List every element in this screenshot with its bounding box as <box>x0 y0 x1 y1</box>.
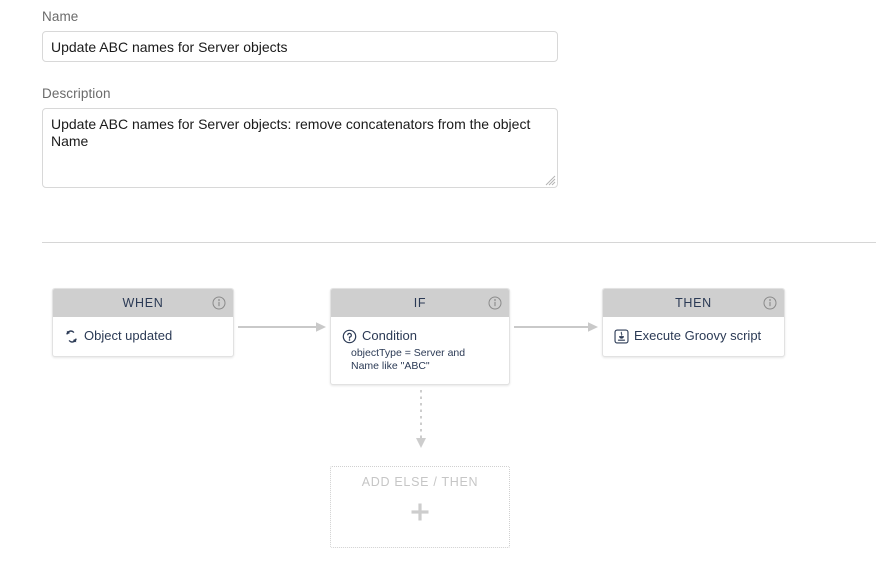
flow-card-then-title: THEN <box>675 296 712 310</box>
flow-card-when[interactable]: WHEN Object updated <box>52 288 234 357</box>
info-circle-icon[interactable] <box>212 296 226 310</box>
flow-card-then[interactable]: THEN Execute Groovy script <box>602 288 785 357</box>
question-circle-icon <box>342 329 357 344</box>
flow-card-if-body: Condition objectType = Server and Name l… <box>331 317 509 384</box>
flow-card-when-text: Object updated <box>84 328 172 343</box>
rule-flow-canvas: WHEN Object updated <box>0 0 876 564</box>
flow-card-when-body: Object updated <box>53 317 233 356</box>
flow-card-when-header: WHEN <box>53 289 233 317</box>
flow-card-then-row[interactable]: Execute Groovy script <box>614 328 774 344</box>
flow-card-if-text: Condition <box>362 328 417 343</box>
flow-card-when-title: WHEN <box>123 296 164 310</box>
arrow-if-to-add-icon <box>412 390 430 452</box>
arrow-when-to-if-icon <box>238 320 326 334</box>
info-circle-icon[interactable] <box>763 296 777 310</box>
add-else-then-button[interactable]: ADD ELSE / THEN <box>330 466 510 548</box>
flow-card-if-condition-detail: objectType = Server and Name like "ABC" <box>351 347 499 372</box>
flow-card-when-row[interactable]: Object updated <box>64 328 223 344</box>
groovy-script-icon <box>614 329 629 344</box>
sync-refresh-icon <box>64 329 79 344</box>
flow-card-if-row[interactable]: Condition <box>342 328 499 344</box>
arrow-if-to-then-icon <box>514 320 598 334</box>
flow-card-then-header: THEN <box>603 289 784 317</box>
flow-card-if-title: IF <box>414 296 427 310</box>
plus-icon[interactable] <box>410 502 430 522</box>
add-else-then-label: ADD ELSE / THEN <box>362 475 479 489</box>
flow-card-if[interactable]: IF Condition objectType = Server and Nam… <box>330 288 510 385</box>
flow-card-then-text: Execute Groovy script <box>634 328 761 343</box>
flow-card-then-body: Execute Groovy script <box>603 317 784 356</box>
info-circle-icon[interactable] <box>488 296 502 310</box>
flow-card-if-header: IF <box>331 289 509 317</box>
